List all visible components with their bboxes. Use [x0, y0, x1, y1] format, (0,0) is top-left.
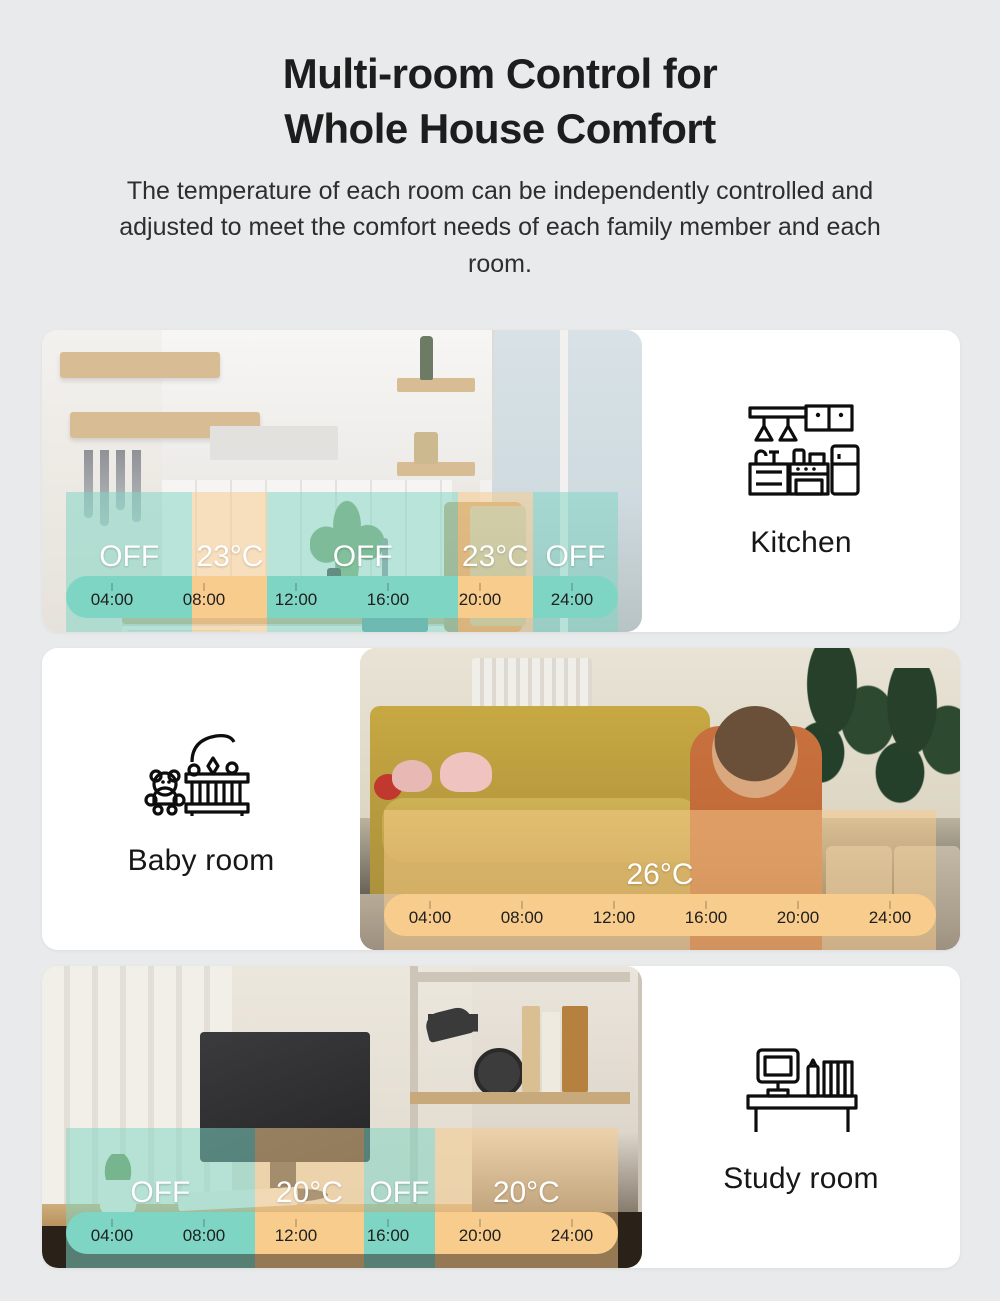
baby-room-tick-1: 08:00 — [476, 902, 568, 928]
page-title-line-2: Whole House Comfort — [284, 105, 715, 152]
baby-room-label-pane: Baby room — [42, 648, 360, 950]
study-room-photo: OFF20°COFF20°C 04:0008:0012:0016:0020:00… — [42, 966, 642, 1268]
kitchen-room-name: Kitchen — [750, 526, 851, 560]
study-room-tick-5: 24:00 — [526, 1220, 618, 1246]
crib-icon — [136, 720, 266, 816]
baby-room-segment-0-label: 26°C — [384, 858, 936, 892]
baby-room-schedule[interactable]: 26°C 04:0008:0012:0016:0020:0024:00 — [360, 810, 960, 950]
study-room-tick-0: 04:00 — [66, 1220, 158, 1246]
baby-room-name: Baby room — [128, 844, 275, 878]
kitchen-tick-2: 12:00 — [250, 584, 342, 610]
room-card-study-room[interactable]: OFF20°COFF20°C 04:0008:0012:0016:0020:00… — [42, 966, 960, 1268]
study-room-tick-1: 08:00 — [158, 1220, 250, 1246]
baby-room-tick-4: 20:00 — [752, 902, 844, 928]
study-room-time-ticks: 04:0008:0012:0016:0020:0024:00 — [66, 1212, 618, 1254]
study-room-label-pane: Study room — [642, 966, 960, 1268]
study-room-segment-2-label: OFF — [364, 1176, 435, 1210]
kitchen-tick-0: 04:00 — [66, 584, 158, 610]
page-title-line-1: Multi-room Control for — [283, 50, 718, 97]
baby-room-time-ticks: 04:0008:0012:0016:0020:0024:00 — [384, 894, 936, 936]
kitchen-segment-1-label: 23°C — [192, 540, 267, 574]
study-room-tick-4: 20:00 — [434, 1220, 526, 1246]
study-room-schedule[interactable]: OFF20°COFF20°C 04:0008:0012:0016:0020:00… — [42, 1128, 642, 1268]
baby-room-tick-5: 24:00 — [844, 902, 936, 928]
desk-icon — [736, 1038, 866, 1134]
kitchen-schedule[interactable]: OFF23°COFF23°COFF 04:0008:0012:0016:0020… — [42, 492, 642, 632]
kitchen-segment-4-label: OFF — [533, 540, 618, 574]
kitchen-segment-3-label: 23°C — [458, 540, 533, 574]
kitchen-segment-2-label: OFF — [267, 540, 457, 574]
kitchen-segment-0-label: OFF — [66, 540, 192, 574]
kitchen-tick-4: 20:00 — [434, 584, 526, 610]
page-subtitle: The temperature of each room can be inde… — [100, 173, 900, 283]
study-room-segment-3-label: 20°C — [435, 1176, 618, 1210]
kitchen-tick-3: 16:00 — [342, 584, 434, 610]
kitchen-photo: OFF23°COFF23°COFF 04:0008:0012:0016:0020… — [42, 330, 642, 632]
page-title: Multi-room Control for Whole House Comfo… — [90, 46, 910, 157]
study-room-tick-3: 16:00 — [342, 1220, 434, 1246]
kitchen-tick-1: 08:00 — [158, 584, 250, 610]
kitchen-label-pane: Kitchen — [642, 330, 960, 632]
kitchen-time-ticks: 04:0008:0012:0016:0020:0024:00 — [66, 576, 618, 618]
baby-room-tick-3: 16:00 — [660, 902, 752, 928]
baby-room-tick-0: 04:00 — [384, 902, 476, 928]
kitchen-icon — [736, 402, 866, 498]
baby-room-photo: 26°C 04:0008:0012:0016:0020:0024:00 — [360, 648, 960, 950]
kitchen-tick-5: 24:00 — [526, 584, 618, 610]
header: Multi-room Control for Whole House Comfo… — [0, 0, 1000, 282]
room-card-baby-room[interactable]: 26°C 04:0008:0012:0016:0020:0024:00 — [42, 648, 960, 950]
room-card-kitchen[interactable]: OFF23°COFF23°COFF 04:0008:0012:0016:0020… — [42, 330, 960, 632]
study-room-name: Study room — [723, 1162, 878, 1196]
room-card-list: OFF23°COFF23°COFF 04:0008:0012:0016:0020… — [42, 330, 960, 1284]
study-room-tick-2: 12:00 — [250, 1220, 342, 1246]
study-room-segment-0-label: OFF — [66, 1176, 255, 1210]
promo-page: Multi-room Control for Whole House Comfo… — [0, 0, 1000, 1301]
baby-room-tick-2: 12:00 — [568, 902, 660, 928]
study-room-segment-1-label: 20°C — [255, 1176, 364, 1210]
